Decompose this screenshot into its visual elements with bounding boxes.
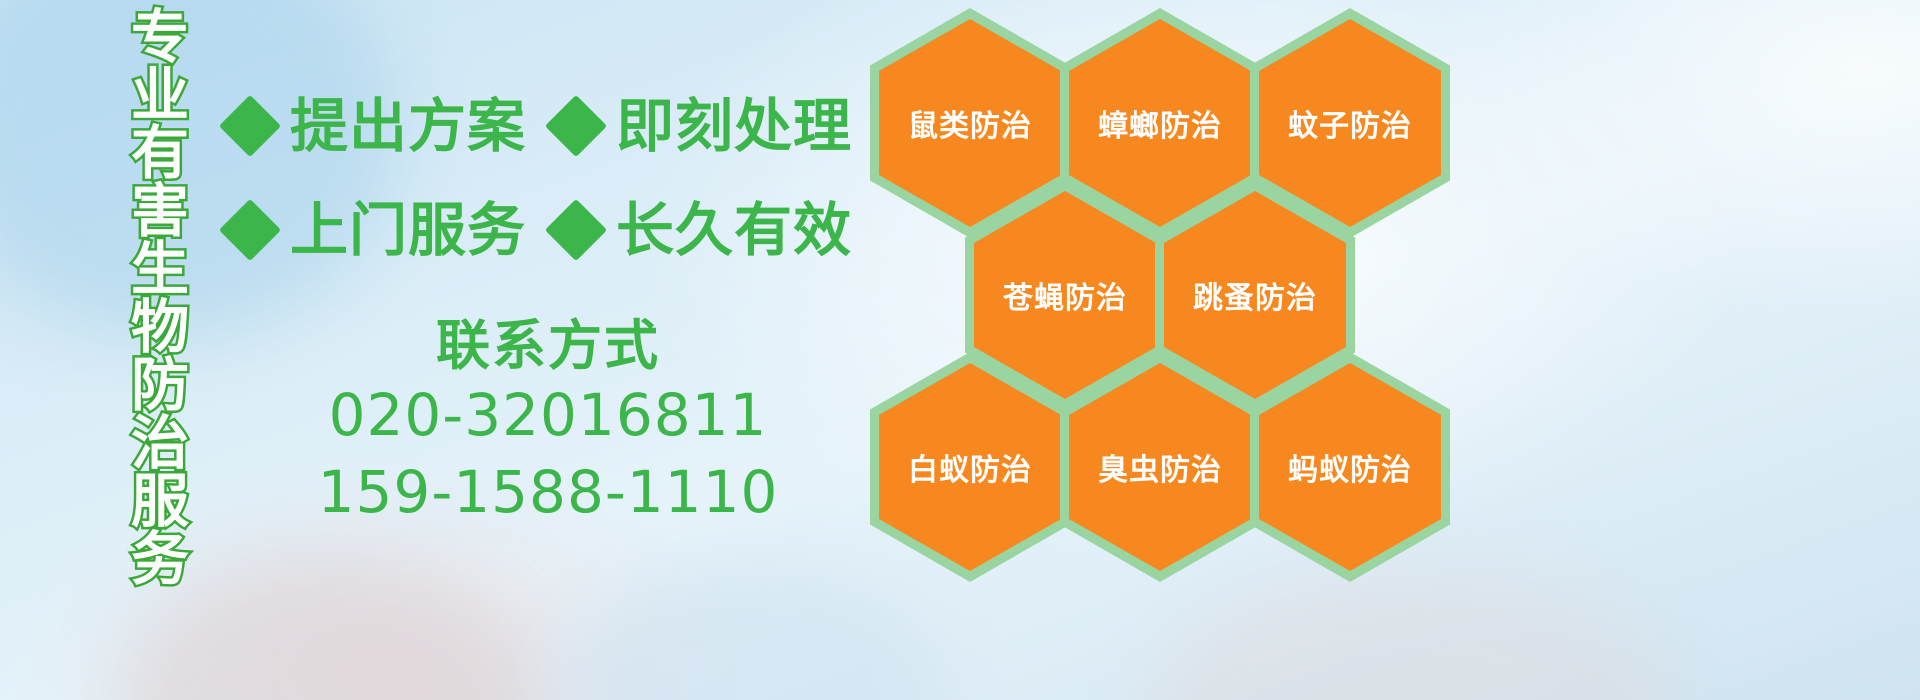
service-label: 蚂蚁防治 — [1288, 445, 1412, 489]
contact-title: 联系方式 — [228, 315, 868, 377]
vertical-title-char: 专 — [131, 8, 189, 66]
phone-number-landline[interactable]: 020-32016811 — [228, 377, 868, 454]
feature-row: 上门服务 长久有效 — [228, 178, 868, 282]
vertical-title-char: 物 — [131, 298, 189, 356]
feature-label: 上门服务 — [290, 201, 526, 259]
diamond-icon — [545, 199, 607, 261]
vertical-title-char: 防 — [131, 356, 189, 414]
feature-item: 上门服务 — [228, 201, 526, 259]
vertical-title-char: 治 — [131, 414, 189, 472]
vertical-title-char: 业 — [131, 66, 189, 124]
vertical-title-char: 生 — [131, 240, 189, 298]
feature-list: 提出方案 即刻处理 上门服务 长久有效 — [228, 74, 868, 282]
feature-item: 即刻处理 — [554, 97, 852, 155]
feature-item: 长久有效 — [554, 201, 852, 259]
vertical-title-char: 服 — [131, 472, 189, 530]
feature-label: 即刻处理 — [616, 97, 852, 155]
service-label: 白蚁防治 — [908, 445, 1032, 489]
vertical-title-char: 务 — [131, 530, 189, 588]
vertical-title-char: 有 — [131, 124, 189, 182]
feature-item: 提出方案 — [228, 97, 526, 155]
diamond-icon — [219, 199, 281, 261]
feature-label: 长久有效 — [616, 201, 852, 259]
feature-label: 提出方案 — [290, 97, 526, 155]
service-label: 蚊子防治 — [1288, 101, 1412, 145]
contact-block: 联系方式 020-32016811 159-1588-1110 — [228, 315, 868, 530]
pest-control-banner: 专 业 有 害 生 物 防 治 服 务 提出方案 即刻处理 上门服务 — [0, 0, 1920, 700]
service-label: 苍蝇防治 — [1003, 273, 1127, 317]
service-hexagon-grid: 鼠类防治 蟑螂防治 蚊子防治 苍蝇防治 跳蚤防治 白蚁防治 臭虫防治 蚂蚁 — [860, 0, 1460, 700]
service-label: 跳蚤防治 — [1193, 273, 1317, 317]
vertical-title-char: 害 — [131, 182, 189, 240]
service-label: 鼠类防治 — [908, 101, 1032, 145]
phone-number-mobile[interactable]: 159-1588-1110 — [228, 454, 868, 531]
diamond-icon — [545, 95, 607, 157]
service-label: 蟑螂防治 — [1098, 101, 1222, 145]
vertical-title: 专 业 有 害 生 物 防 治 服 务 — [108, 8, 212, 564]
feature-row: 提出方案 即刻处理 — [228, 74, 868, 178]
service-label: 臭虫防治 — [1098, 445, 1222, 489]
diamond-icon — [219, 95, 281, 157]
